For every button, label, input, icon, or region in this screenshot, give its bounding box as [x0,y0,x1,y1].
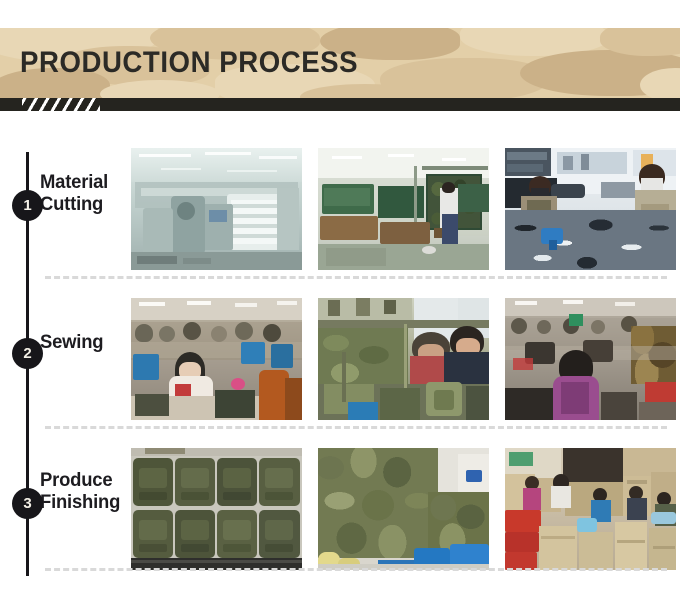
process-photo[interactable] [318,148,489,270]
camouflage-fabric-inspection-worker-image [318,148,489,270]
step-label-line: Cutting [40,194,132,216]
steps-container: 1 Material Cutting [0,140,680,590]
sewing-floor-workers-image [505,298,676,420]
step-label-line: Produce [40,470,132,492]
workers-cutting-camo-fabric-image [505,148,676,270]
step-label: Sewing [40,332,132,354]
process-photo[interactable] [318,448,489,570]
row-divider [45,276,667,279]
process-photo[interactable] [318,298,489,420]
step-produce-finishing: 3 Produce Finishing [0,440,680,590]
photo-row [131,298,676,420]
photo-row [131,448,676,570]
header-banner: PRODUCTION PROCESS [0,28,680,98]
step-sewing: 2 Sewing [0,290,680,440]
step-label-line: Material [40,172,132,194]
step-label-line: Finishing [40,492,132,514]
step-number-badge: 1 [12,190,43,221]
step-label-line: Sewing [40,332,132,354]
process-photo[interactable] [131,448,302,570]
step-number-badge: 2 [12,338,43,369]
process-photo[interactable] [131,298,302,420]
process-photo[interactable] [131,148,302,270]
photo-row [131,148,676,270]
step-label: Material Cutting [40,172,132,217]
step-material-cutting: 1 Material Cutting [0,140,680,290]
row-divider [45,568,667,571]
header-bottom-bar [0,98,680,111]
page-title: PRODUCTION PROCESS [20,46,358,80]
row-divider [45,426,667,429]
step-number-badge: 3 [12,488,43,519]
sewing-machines-olive-fabric-image [318,298,489,420]
packing-warehouse-cartons-image [505,448,676,570]
diagonal-stripes-accent [22,98,100,111]
process-photo[interactable] [505,298,676,420]
bulk-finished-bags-in-bins-image [318,448,489,570]
finished-olive-backpacks-grid-image [131,448,302,570]
weaving-looms-textile-mill-image [131,148,302,270]
step-label: Produce Finishing [40,470,132,515]
process-photo[interactable] [505,448,676,570]
process-photo[interactable] [505,148,676,270]
production-process-page: PRODUCTION PROCESS 1 Material Cutting [0,0,680,607]
sewing-workshop-production-line-image [131,298,302,420]
